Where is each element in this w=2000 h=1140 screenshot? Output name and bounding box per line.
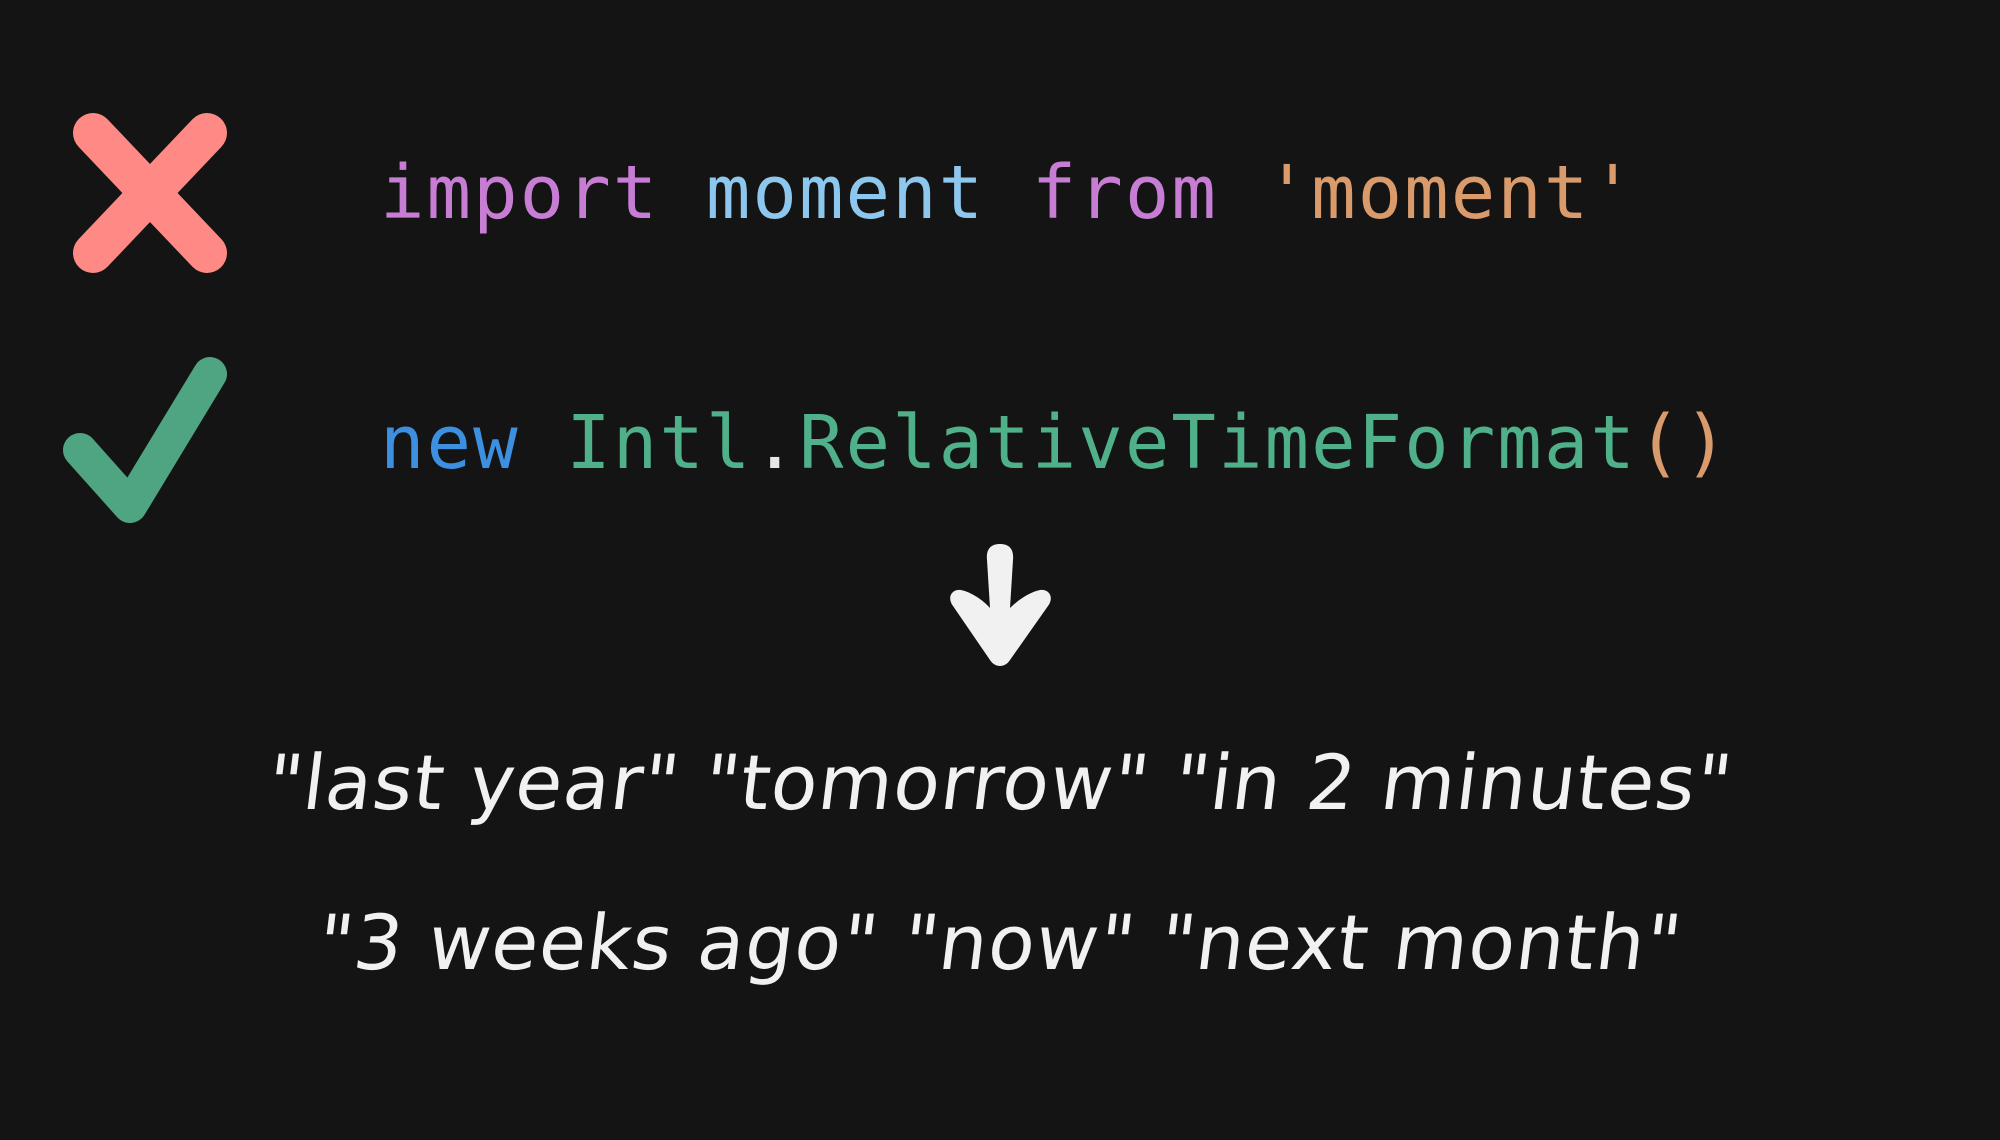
code-token-space bbox=[659, 150, 706, 236]
bad-example-row: import moment from 'moment' bbox=[0, 108, 2000, 278]
code-token-punctuation: . bbox=[752, 400, 799, 486]
code-line-import-moment: import moment from 'moment' bbox=[300, 156, 1637, 230]
good-example-row: new Intl.RelativeTimeFormat() bbox=[0, 358, 2000, 528]
down-arrow-icon bbox=[940, 540, 1060, 670]
code-token-keyword: from bbox=[1032, 150, 1218, 236]
slide-canvas: import moment from 'moment' new Intl.Rel… bbox=[0, 0, 2000, 1140]
check-mark-slot bbox=[0, 358, 300, 528]
check-icon bbox=[60, 358, 240, 528]
code-token-string: 'moment' bbox=[1265, 150, 1637, 236]
code-token-identifier: moment bbox=[706, 150, 985, 236]
output-examples-line-2: "3 weeks ago" "now" "next month" bbox=[0, 905, 2000, 981]
cross-icon bbox=[65, 113, 235, 273]
code-token-space bbox=[520, 400, 567, 486]
code-token-space bbox=[985, 150, 1032, 236]
code-token-namespace: Intl bbox=[566, 400, 752, 486]
output-examples-line-1: "last year" "tomorrow" "in 2 minutes" bbox=[0, 745, 2000, 821]
cross-mark-slot bbox=[0, 108, 300, 278]
code-token-keyword: new bbox=[380, 400, 520, 486]
down-arrow-slot bbox=[940, 540, 1060, 670]
code-token-space bbox=[1218, 150, 1265, 236]
code-token-keyword: import bbox=[380, 150, 659, 236]
code-line-intl-rtf: new Intl.RelativeTimeFormat() bbox=[300, 406, 1730, 480]
code-token-punctuation: () bbox=[1637, 400, 1730, 486]
code-token-class: RelativeTimeFormat bbox=[799, 400, 1637, 486]
